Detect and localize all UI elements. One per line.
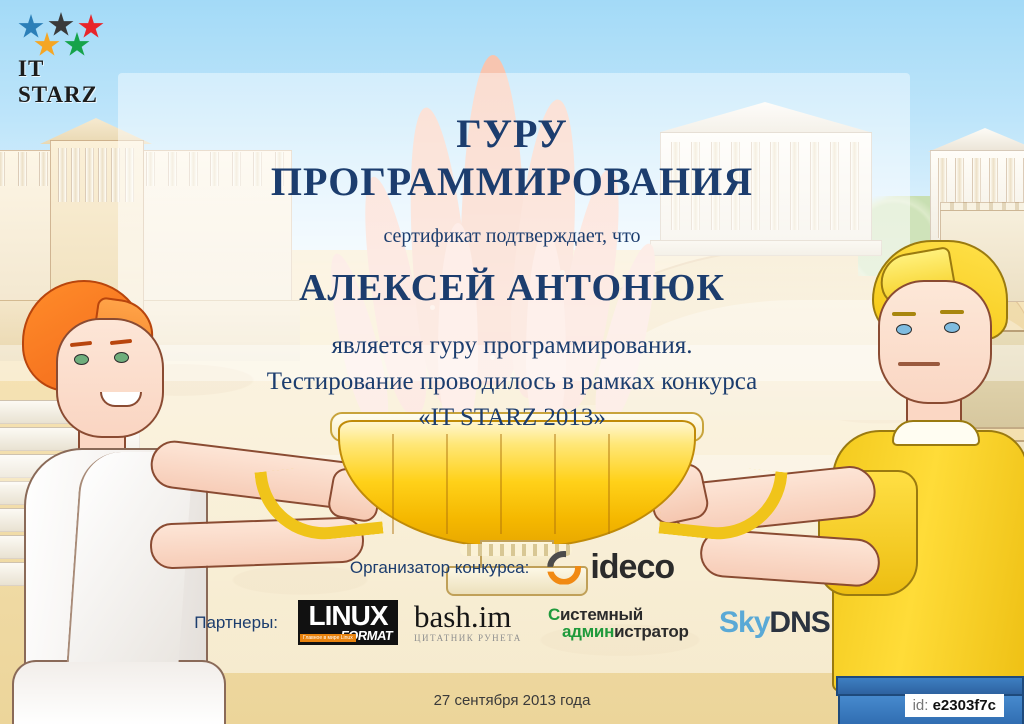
star-blue-icon: [18, 14, 44, 40]
certificate-title-line2: ПРОГРАММИРОВАНИЯ: [0, 158, 1024, 205]
sysadmin-line2-accent: админ: [562, 622, 614, 641]
ideco-wordmark: ideco: [590, 548, 674, 587]
certificate-id-badge: id: e2303f7c: [905, 694, 1004, 717]
certificate-canvas: IT STARZ ГУРУ ПРОГРАММИРОВАНИЯ сертифика…: [0, 0, 1024, 724]
linux-format-main: LINUX: [309, 601, 388, 631]
certificate-body-line1: является гуру программирования.: [0, 332, 1024, 360]
star-red-icon: [78, 14, 104, 40]
recipient-name: АЛЕКСЕЙ АНТОНЮК: [0, 266, 1024, 310]
linux-format-tagline: Главное в мире Linux: [300, 634, 356, 642]
logo-stars: [14, 12, 124, 56]
certificate-title-line1: ГУРУ: [0, 110, 1024, 157]
star-green-icon: [64, 32, 90, 58]
skydns-logo[interactable]: SkyDNS: [719, 606, 830, 640]
certificate-body-line2: Тестирование проводилось в рамках конкур…: [0, 368, 1024, 396]
bash-im-secondary: ЦИТАТНИК РУНЕТА: [414, 633, 532, 643]
sistemny-administrator-logo[interactable]: Системный администратор: [548, 606, 703, 640]
certificate-id-label: id:: [913, 697, 929, 714]
ideco-ring-icon: [547, 551, 581, 585]
certificate-body-line3: «IT STARZ 2013»: [0, 404, 1024, 432]
organizer-label: Организатор конкурса:: [350, 558, 530, 578]
organizer-row: Организатор конкурса: ideco: [0, 548, 1024, 587]
bash-im-main: bash.im: [414, 600, 532, 633]
certificate-id-value: e2303f7c: [933, 697, 996, 714]
certificate-subtitle: сертификат подтверждает, что: [0, 225, 1024, 248]
partners-label: Партнеры:: [194, 613, 278, 633]
skydns-part1: Sky: [719, 606, 769, 639]
logo-wordmark: IT STARZ: [18, 56, 124, 108]
it-starz-logo[interactable]: IT STARZ: [14, 12, 124, 92]
sysadmin-line1: Системный: [548, 606, 703, 623]
ideco-logo[interactable]: ideco: [547, 548, 674, 587]
skydns-part2: DNS: [769, 606, 829, 639]
star-black-icon: [48, 12, 74, 38]
sysadmin-line2: администратор: [548, 623, 703, 640]
partners-row: Партнеры: LINUX FORMAT Главное в мире Li…: [0, 600, 1024, 645]
sysadmin-line2-rest: истратор: [614, 622, 689, 641]
sysadmin-line1-accent: С: [548, 605, 560, 624]
bash-im-logo[interactable]: bash.im ЦИТАТНИК РУНЕТА: [414, 600, 532, 645]
linux-format-logo[interactable]: LINUX FORMAT Главное в мире Linux: [298, 600, 398, 645]
certificate-content: ГУРУ ПРОГРАММИРОВАНИЯ сертификат подтвер…: [0, 0, 1024, 724]
certificate-date: 27 сентября 2013 года: [0, 692, 1024, 709]
